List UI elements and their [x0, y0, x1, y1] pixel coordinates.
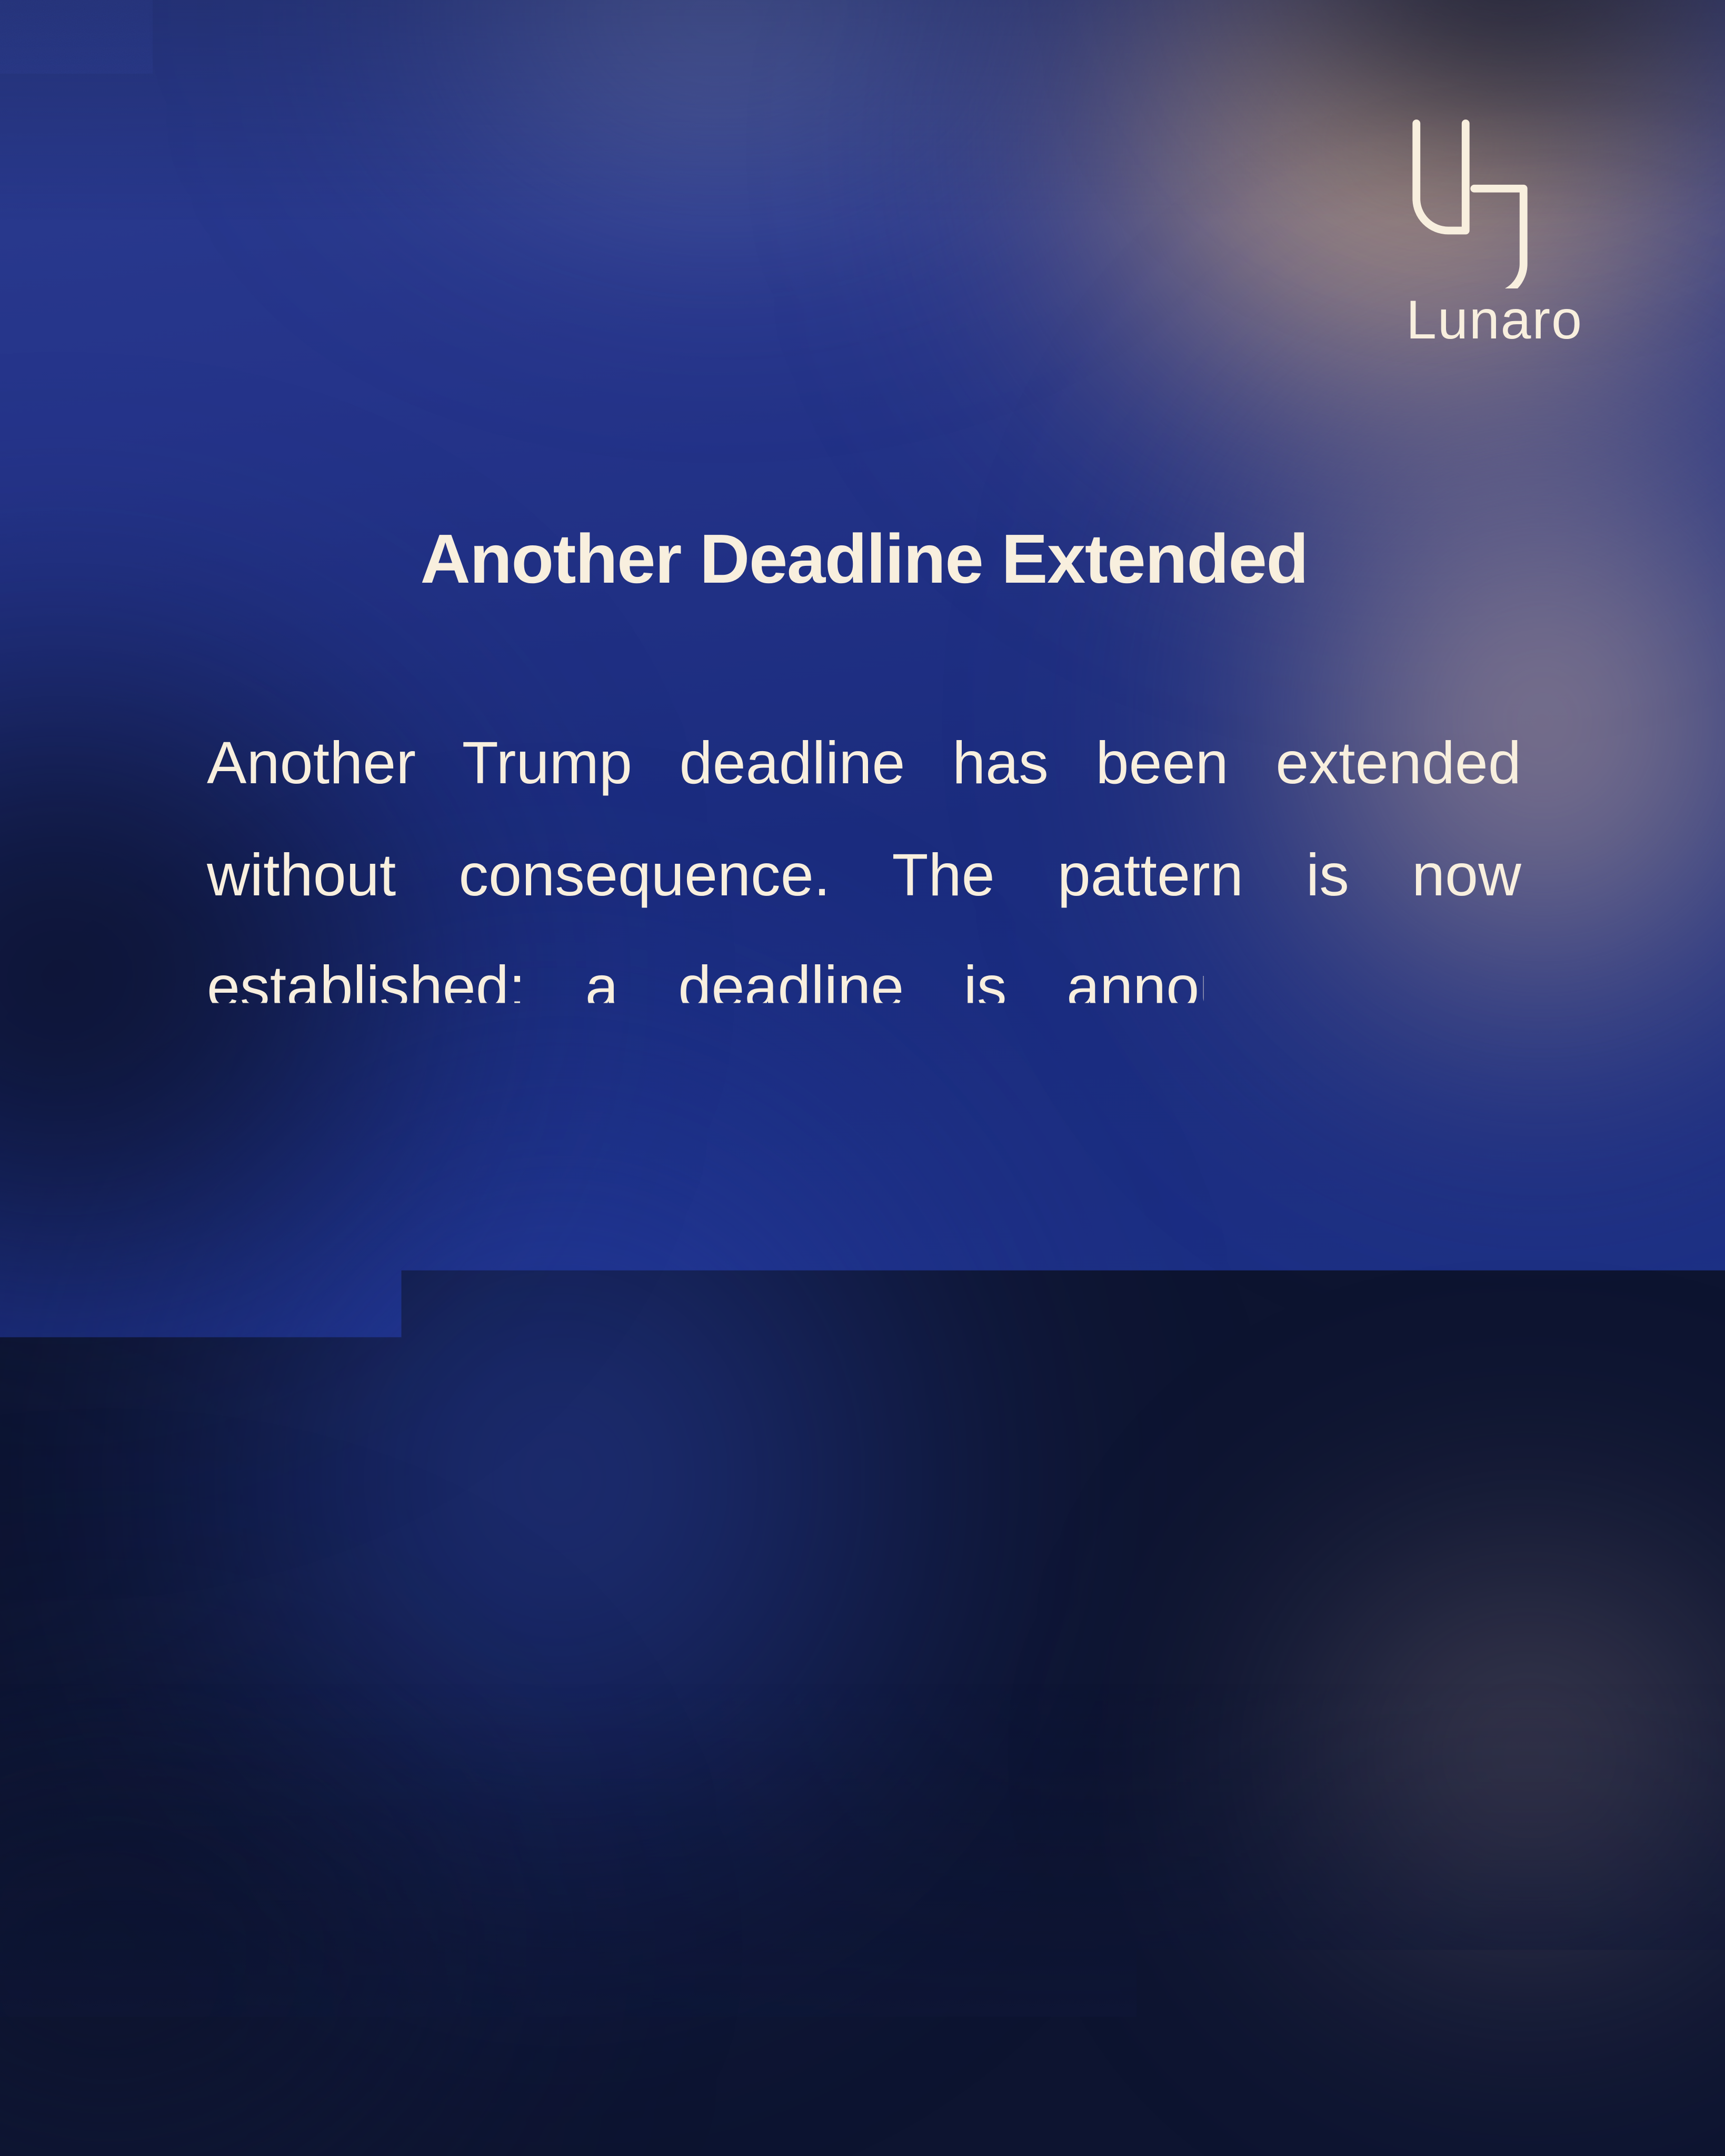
arrow-right-icon[interactable]: [1458, 1742, 1653, 1874]
lunaro-l-monogram-icon: [1398, 115, 1571, 288]
brand-lockup: Lunaro: [1398, 115, 1583, 347]
post-body-text: Another Trump deadline has been extended…: [207, 707, 1521, 1940]
post-title: Another Deadline Extended: [207, 520, 1521, 598]
risk-disclaimer-line-1: Approximately 80% of retail investor acc…: [84, 1992, 1641, 2050]
brand-name: Lunaro: [1406, 293, 1583, 347]
risk-disclaimer-line-2: You should consider whether you can affo…: [84, 2050, 1641, 2108]
next-slide-button[interactable]: [1458, 1742, 1653, 1874]
risk-disclaimer: Approximately 80% of retail investor acc…: [84, 1992, 1641, 2108]
social-post-card: Lunaro Another Deadline Extended Another…: [0, 0, 1725, 2156]
